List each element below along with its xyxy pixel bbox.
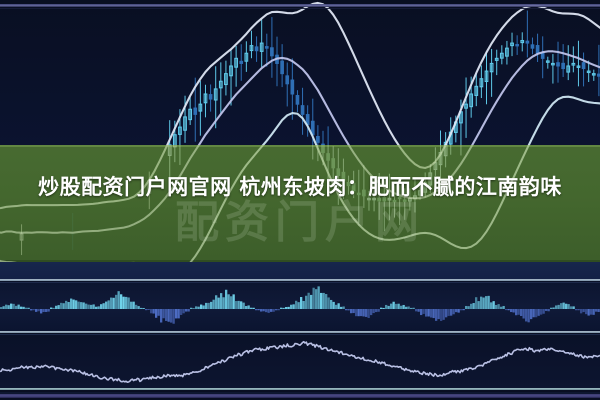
stock-chart-thumbnail: 配资门户网 炒股配资门户网官网 杭州东坡肉：肥而不腻的江南韵味	[0, 0, 600, 400]
panel-separator-bottom	[0, 388, 600, 390]
bottom-accent-rule	[0, 394, 600, 398]
indicator-line	[0, 342, 600, 382]
secondary-indicator-chart	[0, 0, 600, 400]
